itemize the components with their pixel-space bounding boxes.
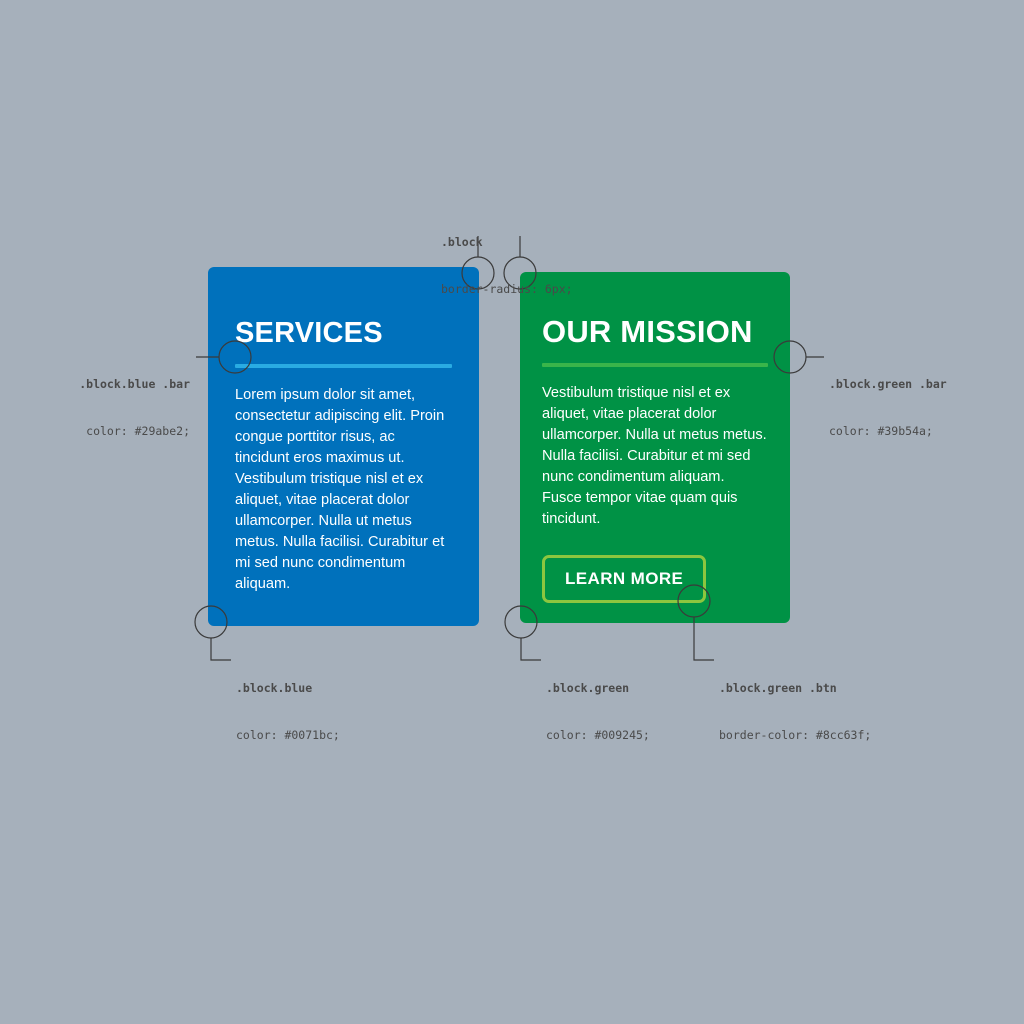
callout-leader-blue-block: [211, 638, 231, 660]
callout-declaration: border-radius: 6px;: [441, 282, 573, 298]
callout-selector: .block.green .btn: [719, 681, 871, 697]
callout-declaration: color: #39b54a;: [829, 424, 947, 440]
callout-label-border-radius: .block border-radius: 6px;: [441, 204, 573, 328]
learn-more-button[interactable]: LEARN MORE: [542, 555, 706, 603]
callout-selector: .block.blue: [236, 681, 340, 697]
callout-label-blue-block: .block.blue color: #0071bc;: [236, 650, 340, 774]
callout-declaration: color: #0071bc;: [236, 728, 340, 744]
block-blue-title: SERVICES: [235, 267, 452, 348]
callout-declaration: border-color: #8cc63f;: [719, 728, 871, 744]
annotation-leader-layer: [0, 0, 1024, 1024]
callout-selector: .block.green: [546, 681, 650, 697]
callout-label-green-block: .block.green color: #009245;: [546, 650, 650, 774]
callout-selector: .block.green .bar: [829, 377, 947, 393]
block-blue[interactable]: SERVICES Lorem ipsum dolor sit amet, con…: [208, 267, 479, 626]
callout-leader-green-button: [694, 617, 714, 660]
callout-label-green-bar: .block.green .bar color: #39b54a;: [829, 346, 947, 470]
callout-leader-green-block: [521, 638, 541, 660]
block-blue-body: Lorem ipsum dolor sit amet, consectetur …: [235, 368, 452, 595]
block-green-title: OUR MISSION: [542, 272, 768, 347]
callout-declaration: color: #009245;: [546, 728, 650, 744]
callout-label-green-button: .block.green .btn border-color: #8cc63f;: [719, 650, 871, 774]
design-spec-canvas: SERVICES Lorem ipsum dolor sit amet, con…: [0, 0, 1024, 1024]
callout-selector: .block: [441, 235, 573, 251]
block-green-body: Vestibulum tristique nisl et ex aliquet,…: [542, 367, 768, 530]
callout-declaration: color: #29abe2;: [0, 424, 190, 440]
callout-selector: .block.blue .bar: [0, 377, 190, 393]
callout-label-blue-bar: .block.blue .bar color: #29abe2;: [0, 346, 190, 470]
